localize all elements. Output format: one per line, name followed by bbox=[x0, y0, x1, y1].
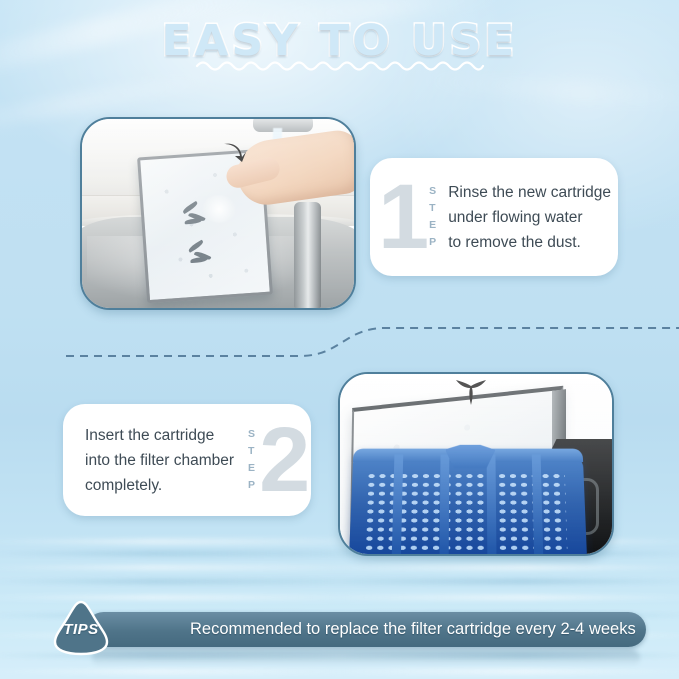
step-2-text: Insert the cartridge into the filter cha… bbox=[85, 423, 234, 498]
step-2-card: Insert the cartridge into the filter cha… bbox=[63, 404, 311, 516]
finial-icon bbox=[454, 379, 488, 405]
tips-badge: TIPS bbox=[50, 599, 112, 657]
step-2-number: 2 bbox=[259, 418, 310, 502]
step-2-step-word: S T E P bbox=[248, 426, 255, 494]
step-letter-e: E bbox=[429, 217, 436, 234]
step-1-line-2: under flowing water bbox=[448, 205, 611, 230]
tips-text: Recommended to replace the filter cartri… bbox=[190, 612, 636, 647]
dashed-connector bbox=[0, 300, 679, 380]
step-letter-p: P bbox=[248, 477, 255, 494]
step-letter-p: P bbox=[429, 234, 436, 251]
step-letter-s: S bbox=[248, 426, 255, 443]
tips-badge-text: TIPS bbox=[50, 621, 112, 638]
light-streak bbox=[419, 70, 679, 111]
step-1-line-3: to remove the dust. bbox=[448, 230, 611, 255]
step-letter-t: T bbox=[429, 200, 436, 217]
step-1-photo bbox=[80, 117, 356, 310]
step-2-line-1: Insert the cartridge bbox=[85, 423, 234, 448]
curved-arrow-icon bbox=[221, 140, 247, 166]
step-1-card: 1 S T E P Rinse the new cartridge under … bbox=[370, 158, 618, 276]
step-letter-s: S bbox=[429, 183, 436, 200]
title-wave-underline bbox=[0, 58, 679, 72]
photo-scene-insert bbox=[340, 374, 612, 554]
step-2-line-2: into the filter chamber bbox=[85, 448, 234, 473]
tips-bar: Recommended to replace the filter cartri… bbox=[86, 612, 646, 647]
photo-scene-rinsing bbox=[82, 119, 354, 308]
step-1-step-word: S T E P bbox=[429, 183, 436, 251]
infographic-page: EASY TO USE bbox=[0, 0, 679, 679]
tips-bar-reflection bbox=[92, 650, 640, 666]
step-1-number: 1 bbox=[378, 175, 429, 259]
step-1-line-1: Rinse the new cartridge bbox=[448, 180, 611, 205]
step-1-text: Rinse the new cartridge under flowing wa… bbox=[448, 180, 611, 255]
step-2-photo bbox=[338, 372, 614, 556]
step-letter-e: E bbox=[248, 460, 255, 477]
step-letter-t: T bbox=[248, 443, 255, 460]
step-2-line-3: completely. bbox=[85, 473, 234, 498]
filter-chamber-basket bbox=[349, 455, 588, 556]
